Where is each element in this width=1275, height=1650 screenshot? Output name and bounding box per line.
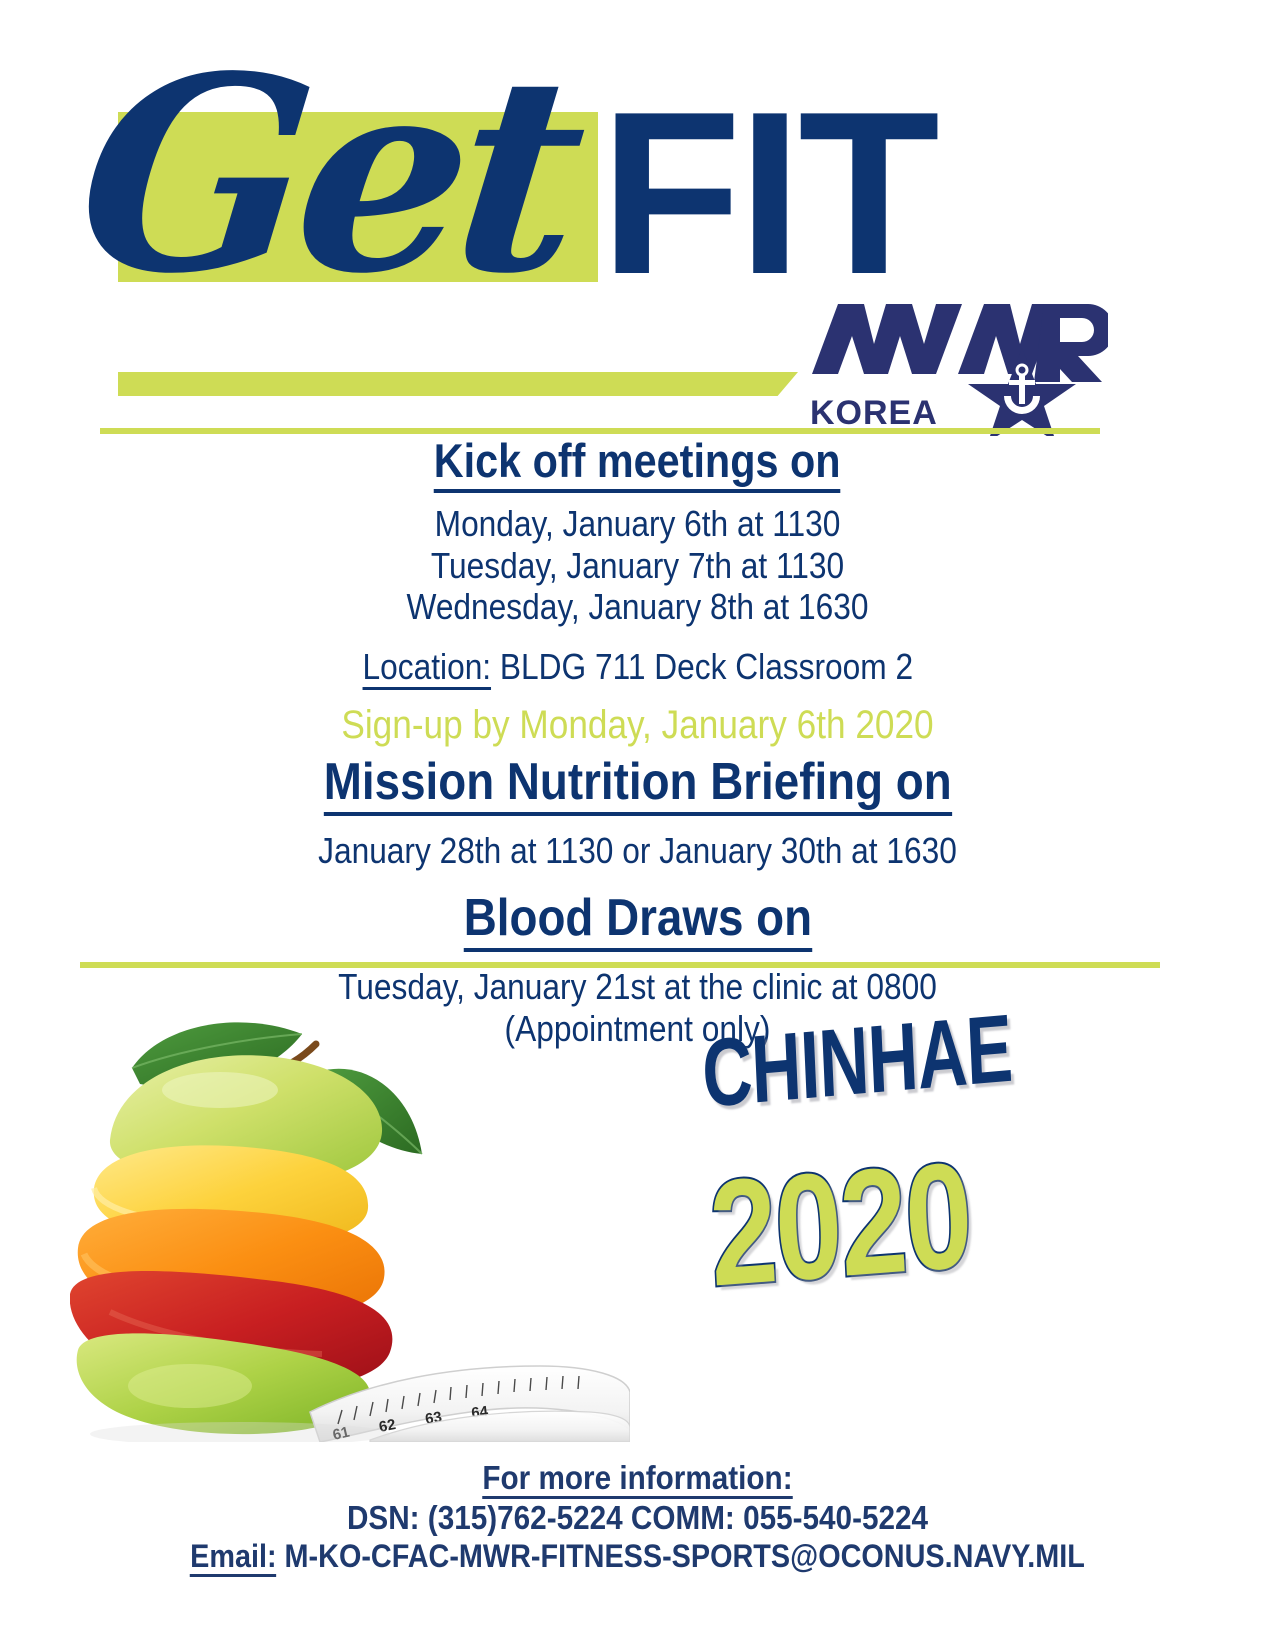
location-label: Location:: [362, 646, 491, 690]
nutrition-heading: Mission Nutrition Briefing on: [324, 754, 952, 816]
logo-fit-word: FIT: [600, 78, 936, 310]
more-info-label: For more information:: [482, 1459, 792, 1499]
flyer-page: Get FIT: [0, 0, 1275, 1650]
signup-deadline: Sign-up by Monday, January 6th 2020: [77, 702, 1199, 748]
event-details: Kick off meetings on Monday, January 6th…: [0, 436, 1275, 1050]
logo-green-underbar: [118, 372, 798, 396]
mwr-korea-text: KOREA: [810, 394, 938, 432]
fruit-stack-graphic: 61 62 63 64: [70, 972, 630, 1442]
nutrition-detail: January 28th at 1130 or January 30th at …: [77, 830, 1199, 872]
location-row: Location: BLDG 711 Deck Classroom 2: [362, 646, 913, 688]
chinhae-badge: CHINHAE 2020: [700, 1020, 1080, 1320]
location-value: BLDG 711 Deck Classroom 2: [491, 646, 913, 687]
kickoff-heading: Kick off meetings on: [434, 436, 841, 493]
contact-footer: For more information: DSN: (315)762-5224…: [0, 1458, 1275, 1576]
email-label: Email:: [190, 1538, 276, 1577]
kickoff-date-2: Tuesday, January 7th at 1130: [77, 545, 1199, 587]
phone-numbers: DSN: (315)762-5224 COMM: 055-540-5224: [64, 1498, 1212, 1538]
chinhae-year-text: 2020: [706, 1128, 975, 1321]
email-row: Email: M-KO-CFAC-MWR-FITNESS-SPORTS@OCON…: [64, 1537, 1212, 1575]
email-address[interactable]: M-KO-CFAC-MWR-FITNESS-SPORTS@OCONUS.NAVY…: [277, 1538, 1085, 1574]
fruit-stack-image: 61 62 63 64: [70, 972, 630, 1442]
kickoff-date-1: Monday, January 6th at 1130: [77, 503, 1199, 545]
mwr-logo-graphic: KOREA: [808, 296, 1108, 436]
get-fit-logo: Get FIT: [0, 0, 1275, 440]
blood-heading: Blood Draws on: [463, 890, 811, 952]
divider-bottom: [80, 962, 1160, 968]
mwr-korea-logo: KOREA: [808, 296, 1108, 436]
kickoff-date-3: Wednesday, January 8th at 1630: [77, 586, 1199, 628]
